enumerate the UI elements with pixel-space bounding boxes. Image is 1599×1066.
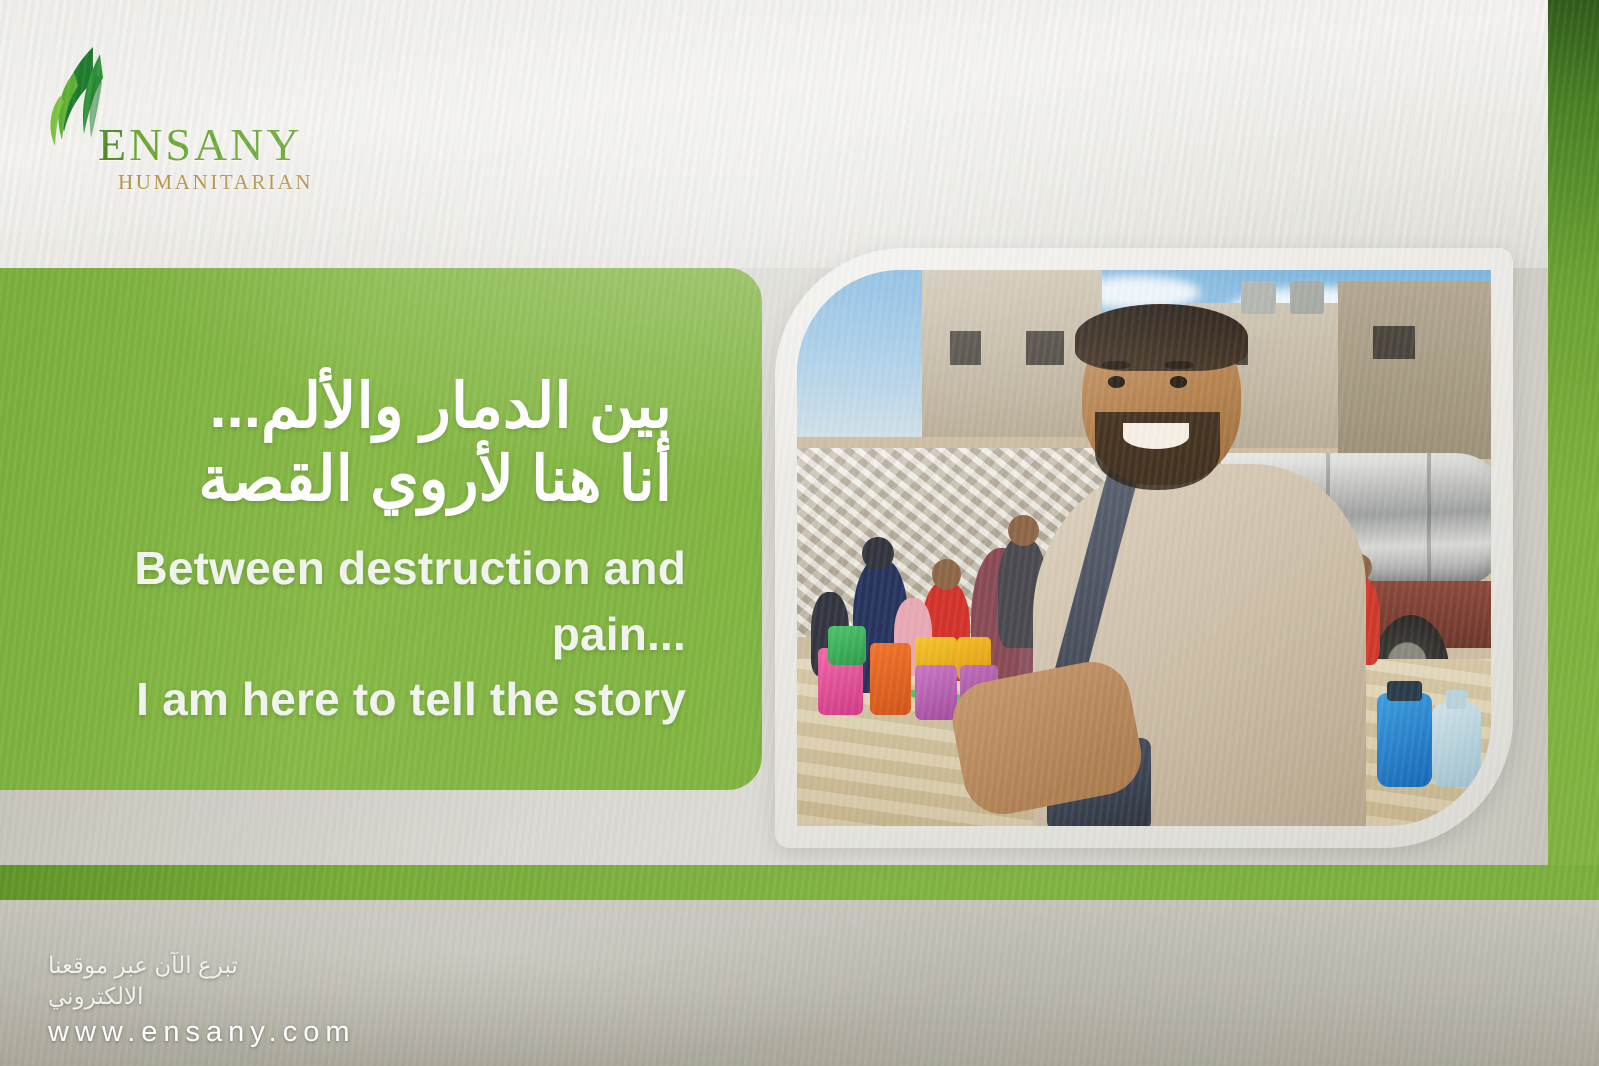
person-head [932,559,961,590]
water-container-blue-cap [1387,681,1422,700]
headline-english-line-1: Between destruction and pain... [0,516,720,667]
man-smile [1123,423,1189,449]
brand-wordmark-rest: NSANY [129,119,302,170]
brand-wordmark: ENSANY [98,122,303,168]
headline-arabic-line-2: أنا هنا لأروي القصة [0,443,720,516]
website-url[interactable]: www.ensany.com [48,1016,608,1049]
brand-logo[interactable]: ENSANY HUMANITARIAN [44,44,274,174]
jerry-can-orange [870,643,912,715]
building-window [950,331,981,364]
man-eyebrow [1102,361,1130,369]
foreground-man [1033,309,1380,826]
water-container-blue [1377,693,1433,788]
photo-frame [775,248,1513,848]
brand-tagline: HUMANITARIAN [118,172,313,193]
footer-block: تبرع الآن عبر موقعنا الالكتروني www.ensa… [48,950,608,1049]
headline-arabic-line-1: بين الدمار والألم... [0,370,720,443]
water-container-translucent [1432,704,1481,787]
headline-block: بين الدمار والألم... أنا هنا لأروي القصة… [0,370,720,732]
man-eye [1108,376,1125,387]
donate-prompt: تبرع الآن عبر موقعنا الالكتروني [48,950,310,1012]
tanker-band [1427,453,1431,586]
green-right-rail [1548,0,1599,900]
headline-english-line-2: I am here to tell the story [0,667,720,732]
jerry-can-green [828,626,866,665]
man-hair [1075,304,1249,371]
man-eye [1170,376,1187,387]
poster-background: ENSANY HUMANITARIAN بين الدمار والألم...… [0,0,1599,1066]
green-bottom-bar [0,865,1599,900]
jerry-can-purple [915,665,957,721]
scene-photo [797,270,1491,826]
water-container-translucent-neck [1446,690,1467,709]
brand-wordmark-lead: E [98,119,129,170]
man-eyebrow [1165,361,1193,369]
